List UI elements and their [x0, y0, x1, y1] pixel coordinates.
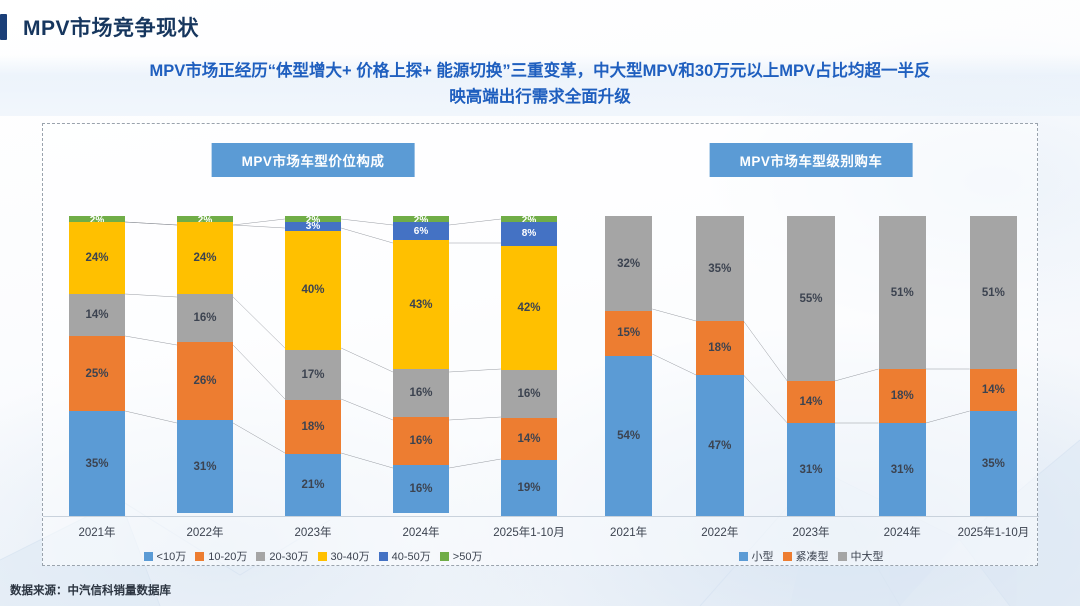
legend-item[interactable]: 30-40万	[318, 548, 370, 564]
bar-segment[interactable]: 47%	[696, 375, 743, 516]
bar-segment[interactable]: 24%	[177, 222, 233, 294]
bar-segment-label: 32%	[617, 258, 640, 270]
bar-segment-label: 25%	[85, 368, 108, 380]
x-axis-labels-size-class: 2021年2022年2023年2024年2025年1-10月	[583, 524, 1039, 540]
legend-label: 40-50万	[392, 548, 431, 564]
bar-segment-label: 42%	[517, 302, 540, 314]
legend-label: 紧凑型	[796, 548, 829, 564]
plot-area-price-mix: 2%24%14%25%35%2%24%16%26%31%2%3%40%17%18…	[43, 216, 583, 516]
bar-segment-label: 21%	[301, 479, 324, 491]
x-axis-line-size-class	[583, 516, 1039, 517]
bar-segment-label: 35%	[982, 458, 1005, 470]
bar-segment[interactable]: 51%	[879, 216, 926, 369]
bar-segment[interactable]: 17%	[285, 350, 341, 401]
stacked-bars-price-mix: 2%24%14%25%35%2%24%16%26%31%2%3%40%17%18…	[43, 216, 583, 516]
x-axis-label: 2023年	[259, 524, 367, 540]
bar-segment[interactable]: 8%	[501, 222, 557, 246]
page-title: MPV市场竞争现状	[23, 12, 199, 42]
bar-segment-label: 55%	[799, 293, 822, 305]
stacked-bar[interactable]: 35%18%47%	[696, 216, 743, 516]
bar-segment[interactable]: 40%	[285, 231, 341, 350]
bar-segment[interactable]: 54%	[605, 356, 652, 516]
stacked-bar[interactable]: 2%24%14%25%35%	[69, 216, 125, 516]
bar-slot: 35%18%47%	[674, 216, 765, 516]
stacked-bar[interactable]: 2%8%42%16%14%19%	[501, 216, 557, 516]
bar-segment-label: 24%	[193, 252, 216, 264]
bar-slot: 2%8%42%16%14%19%	[475, 216, 583, 516]
bar-segment[interactable]: 19%	[501, 460, 557, 516]
bar-segment-label: 51%	[891, 287, 914, 299]
plot-area-size-class: 32%15%54%35%18%47%55%14%31%51%18%31%51%1…	[583, 216, 1039, 516]
bar-segment-label: 31%	[193, 461, 216, 473]
bar-segment[interactable]: 35%	[69, 411, 125, 516]
bar-slot: 51%14%35%	[948, 216, 1039, 516]
legend-label: 20-30万	[269, 548, 308, 564]
legend-label: 小型	[752, 548, 774, 564]
bar-slot: 32%15%54%	[583, 216, 674, 516]
bar-segment-label: 31%	[799, 464, 822, 476]
x-axis-label: 2024年	[367, 524, 475, 540]
stacked-bar[interactable]: 2%6%43%16%16%16%	[393, 216, 449, 516]
bar-segment-label: 18%	[891, 390, 914, 402]
bar-segment[interactable]: 25%	[69, 336, 125, 411]
bar-segment[interactable]: 14%	[69, 294, 125, 336]
bar-segment-label: 54%	[617, 430, 640, 442]
bar-segment[interactable]: 14%	[501, 418, 557, 460]
legend-swatch-icon	[440, 552, 449, 561]
stacked-bars-size-class: 32%15%54%35%18%47%55%14%31%51%18%31%51%1…	[583, 216, 1039, 516]
bar-segment[interactable]: 18%	[696, 321, 743, 375]
bar-segment[interactable]: 16%	[177, 294, 233, 342]
x-axis-label: 2025年1-10月	[948, 524, 1039, 540]
bar-segment[interactable]: 3%	[285, 222, 341, 231]
bar-slot: 2%3%40%17%18%21%	[259, 216, 367, 516]
legend-swatch-icon	[783, 552, 792, 561]
bar-segment-label: 14%	[517, 433, 540, 445]
bar-segment[interactable]: 18%	[879, 369, 926, 423]
legend-swatch-icon	[838, 552, 847, 561]
bar-segment[interactable]: 35%	[696, 216, 743, 321]
x-axis-labels-price-mix: 2021年2022年2023年2024年2025年1-10月	[43, 524, 583, 540]
bar-segment[interactable]: 32%	[605, 216, 652, 311]
bar-segment[interactable]: 31%	[177, 420, 233, 513]
bar-segment-label: 26%	[193, 375, 216, 387]
bar-segment[interactable]: 55%	[787, 216, 834, 381]
bar-segment-label: 35%	[708, 263, 731, 275]
legend-item[interactable]: 紧凑型	[783, 548, 829, 564]
bar-segment[interactable]: 14%	[970, 369, 1017, 411]
charts-card: MPV市场车型价位构成 2%24%14%25%35%2%24%16%26%31%…	[42, 123, 1038, 566]
bar-segment[interactable]: 43%	[393, 240, 449, 369]
x-axis-label: 2023年	[765, 524, 856, 540]
chart-panel-price-mix: MPV市场车型价位构成 2%24%14%25%35%2%24%16%26%31%…	[43, 124, 583, 565]
legend-swatch-icon	[318, 552, 327, 561]
page-header: MPV市场竞争现状	[0, 8, 199, 46]
bar-segment[interactable]: 16%	[393, 417, 449, 465]
bar-slot: 2%24%14%25%35%	[43, 216, 151, 516]
bar-segment[interactable]: 21%	[285, 454, 341, 516]
x-axis-label: 2022年	[674, 524, 765, 540]
chart-title-price-mix: MPV市场车型价位构成	[212, 143, 415, 177]
legend-price-mix: <10万10-20万20-30万30-40万40-50万>50万	[43, 548, 583, 564]
legend-label: >50万	[453, 548, 483, 564]
bar-segment-label: 6%	[414, 226, 428, 237]
bar-slot: 55%14%31%	[765, 216, 856, 516]
bar-segment-label: 8%	[522, 228, 536, 239]
bar-segment[interactable]: 14%	[787, 381, 834, 423]
x-axis-line-price-mix	[43, 516, 583, 517]
bar-segment-label: 16%	[409, 387, 432, 399]
bar-slot: 2%6%43%16%16%16%	[367, 216, 475, 516]
stacked-bar[interactable]: 55%14%31%	[787, 216, 834, 516]
x-axis-label: 2021年	[583, 524, 674, 540]
bar-segment[interactable]: 31%	[879, 423, 926, 516]
stacked-bar[interactable]: 2%3%40%17%18%21%	[285, 216, 341, 516]
bar-segment[interactable]: 26%	[177, 342, 233, 420]
legend-item[interactable]: <10万	[144, 548, 187, 564]
bar-segment-label: 14%	[85, 309, 108, 321]
subtitle-band: MPV市场正经历“体型增大+ 价格上探+ 能源切换”三重变革，中大型MPV和30…	[0, 54, 1080, 116]
legend-label: 中大型	[851, 548, 884, 564]
chart-panel-size-class: MPV市场车型级别购车 32%15%54%35%18%47%55%14%31%5…	[583, 124, 1039, 565]
legend-label: 10-20万	[208, 548, 247, 564]
bar-segment-label: 14%	[799, 396, 822, 408]
bar-segment-label: 18%	[708, 342, 731, 354]
legend-label: <10万	[157, 548, 187, 564]
stacked-bar[interactable]: 2%24%16%26%31%	[177, 216, 233, 516]
bar-segment-label: 16%	[409, 435, 432, 447]
bar-segment[interactable]: 16%	[501, 370, 557, 418]
legend-swatch-icon	[739, 552, 748, 561]
legend-item[interactable]: >50万	[440, 548, 483, 564]
bar-segment[interactable]: 42%	[501, 246, 557, 371]
bar-segment[interactable]: 35%	[970, 411, 1017, 516]
bar-segment[interactable]: 16%	[393, 465, 449, 513]
stacked-bar[interactable]: 51%14%35%	[970, 216, 1017, 516]
data-source-note: 数据来源：中汽信科销量数据库	[10, 582, 171, 598]
bar-segment[interactable]: 31%	[787, 423, 834, 516]
legend-label: 30-40万	[331, 548, 370, 564]
x-axis-label: 2024年	[857, 524, 948, 540]
bar-segment[interactable]: 6%	[393, 222, 449, 240]
bar-slot: 2%24%16%26%31%	[151, 216, 259, 516]
legend-swatch-icon	[379, 552, 388, 561]
legend-swatch-icon	[144, 552, 153, 561]
bar-segment[interactable]: 16%	[393, 369, 449, 417]
bar-segment-label: 17%	[301, 369, 324, 381]
legend-size-class: 小型紧凑型中大型	[583, 548, 1039, 564]
stacked-bar[interactable]: 51%18%31%	[879, 216, 926, 516]
bar-segment-label: 24%	[85, 252, 108, 264]
chart-title-size-class: MPV市场车型级别购车	[710, 143, 913, 177]
bar-segment[interactable]: 24%	[69, 222, 125, 294]
legend-item[interactable]: 10-20万	[195, 548, 247, 564]
legend-swatch-icon	[256, 552, 265, 561]
bar-segment-label: 15%	[617, 327, 640, 339]
bar-segment-label: 14%	[982, 384, 1005, 396]
legend-item[interactable]: 小型	[739, 548, 774, 564]
stacked-bar[interactable]: 32%15%54%	[605, 216, 652, 516]
bar-segment-label: 40%	[301, 284, 324, 296]
bar-segment-label: 31%	[891, 464, 914, 476]
legend-swatch-icon	[195, 552, 204, 561]
bar-segment-label: 35%	[85, 458, 108, 470]
bar-segment-label: 47%	[708, 440, 731, 452]
legend-item[interactable]: 20-30万	[256, 548, 308, 564]
bar-segment[interactable]: 51%	[970, 216, 1017, 369]
x-axis-label: 2025年1-10月	[475, 524, 583, 540]
bar-segment-label: 19%	[517, 482, 540, 494]
bar-segment-label: 16%	[193, 312, 216, 324]
subtitle-line-2: 映高端出行需求全面升级	[449, 85, 631, 111]
bar-segment-label: 16%	[409, 483, 432, 495]
legend-item[interactable]: 中大型	[838, 548, 884, 564]
subtitle-line-1: MPV市场正经历“体型增大+ 价格上探+ 能源切换”三重变革，中大型MPV和30…	[149, 59, 930, 85]
x-axis-label: 2021年	[43, 524, 151, 540]
bar-segment-label: 16%	[517, 388, 540, 400]
bar-slot: 51%18%31%	[857, 216, 948, 516]
bar-segment[interactable]: 18%	[285, 400, 341, 453]
bar-segment-label: 18%	[301, 421, 324, 433]
bar-segment[interactable]: 15%	[605, 311, 652, 356]
x-axis-label: 2022年	[151, 524, 259, 540]
legend-item[interactable]: 40-50万	[379, 548, 431, 564]
bar-segment-label: 43%	[409, 299, 432, 311]
title-accent-bar	[0, 14, 7, 40]
bar-segment-label: 51%	[982, 287, 1005, 299]
